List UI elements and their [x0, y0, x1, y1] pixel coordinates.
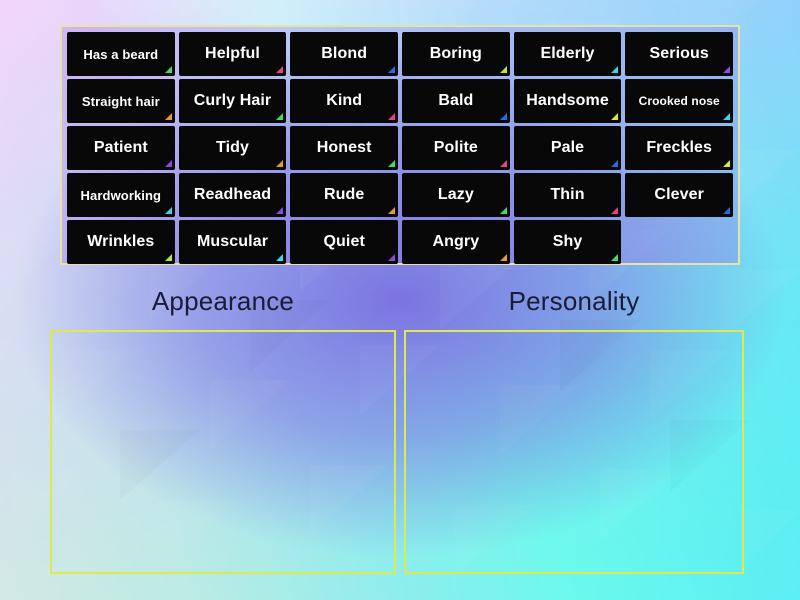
word-tile-corner-triangle-icon	[165, 254, 172, 261]
word-tile-corner-triangle-icon	[388, 113, 395, 120]
word-tile-label: Angry	[432, 234, 479, 250]
word-tile[interactable]: Kind	[290, 79, 398, 123]
word-tile[interactable]: Has a beard	[67, 32, 175, 76]
word-tile[interactable]: Thin	[514, 173, 622, 217]
word-tile[interactable]: Lazy	[402, 173, 510, 217]
word-tile[interactable]: Shy	[514, 220, 622, 264]
word-tile-corner-triangle-icon	[388, 207, 395, 214]
word-tile-label: Boring	[430, 46, 482, 62]
word-tile-row: Straight hairCurly HairKindBaldHandsomeC…	[67, 79, 733, 123]
word-tile[interactable]: Angry	[402, 220, 510, 264]
word-tile-corner-triangle-icon	[388, 254, 395, 261]
word-tile-corner-triangle-icon	[723, 113, 730, 120]
word-tile[interactable]: Serious	[625, 32, 733, 76]
word-tile-corner-triangle-icon	[165, 207, 172, 214]
word-tile-corner-triangle-icon	[611, 160, 618, 167]
word-tile[interactable]: Rude	[290, 173, 398, 217]
word-tile-label: Tidy	[216, 140, 249, 156]
word-tile-corner-triangle-icon	[388, 66, 395, 73]
word-tile-label: Polite	[434, 140, 478, 156]
word-tile-row: WrinklesMuscularQuietAngryShy	[67, 220, 733, 264]
word-tile[interactable]: Freckles	[625, 126, 733, 170]
word-tile-label: Straight hair	[82, 95, 160, 108]
word-tile-label: Has a beard	[83, 48, 158, 61]
word-tile[interactable]: Boring	[402, 32, 510, 76]
word-tile[interactable]: Wrinkles	[67, 220, 175, 264]
word-tile[interactable]: Clever	[625, 173, 733, 217]
word-tile-label: Crooked nose	[639, 95, 720, 107]
word-tile-corner-triangle-icon	[500, 160, 507, 167]
word-tile-row: Has a beardHelpfulBlondBoringElderlySeri…	[67, 32, 733, 76]
word-tile[interactable]: Elderly	[514, 32, 622, 76]
word-tile-label: Blond	[321, 46, 367, 62]
word-tile[interactable]: Helpful	[179, 32, 287, 76]
word-tile[interactable]: Curly Hair	[179, 79, 287, 123]
word-tile-label: Bald	[438, 93, 473, 109]
word-tile-label: Serious	[650, 46, 709, 62]
word-tile-label: Rude	[324, 187, 364, 203]
word-tile[interactable]: Bald	[402, 79, 510, 123]
category-heading-appearance: Appearance	[50, 286, 396, 317]
word-tile-label: Helpful	[205, 46, 260, 62]
word-tile-corner-triangle-icon	[723, 207, 730, 214]
word-tile-label: Lazy	[438, 187, 474, 203]
word-tile-corner-triangle-icon	[276, 66, 283, 73]
word-tile[interactable]: Honest	[290, 126, 398, 170]
word-tile-corner-triangle-icon	[165, 160, 172, 167]
word-tile-label: Thin	[550, 187, 584, 203]
word-tile-corner-triangle-icon	[500, 207, 507, 214]
drop-zone-personality[interactable]	[404, 330, 744, 574]
word-tile[interactable]: Blond	[290, 32, 398, 76]
word-tile[interactable]: Straight hair	[67, 79, 175, 123]
word-tile-label: Shy	[553, 234, 583, 250]
word-tile-label: Clever	[654, 187, 704, 203]
word-tile-corner-triangle-icon	[723, 66, 730, 73]
word-tile-corner-triangle-icon	[500, 66, 507, 73]
word-tile-corner-triangle-icon	[388, 160, 395, 167]
word-bank-panel: Has a beardHelpfulBlondBoringElderlySeri…	[60, 25, 740, 265]
word-tile[interactable]: Polite	[402, 126, 510, 170]
word-tile-label: Wrinkles	[87, 234, 154, 250]
word-tile-corner-triangle-icon	[500, 254, 507, 261]
word-tile-corner-triangle-icon	[165, 113, 172, 120]
word-tile[interactable]: Pale	[514, 126, 622, 170]
word-tile-corner-triangle-icon	[165, 66, 172, 73]
activity-stage: Has a beardHelpfulBlondBoringElderlySeri…	[0, 0, 800, 600]
word-tile[interactable]: Quiet	[290, 220, 398, 264]
word-tile-corner-triangle-icon	[276, 160, 283, 167]
word-tile-corner-triangle-icon	[500, 113, 507, 120]
word-tile-label: Handsome	[526, 93, 609, 109]
word-tile[interactable]: Hardworking	[67, 173, 175, 217]
word-tile[interactable]: Handsome	[514, 79, 622, 123]
word-tile-corner-triangle-icon	[611, 207, 618, 214]
word-tile-label: Quiet	[323, 234, 364, 250]
drop-zone-appearance[interactable]	[50, 330, 396, 574]
word-tile-empty-slot	[625, 220, 733, 264]
word-tile[interactable]: Patient	[67, 126, 175, 170]
word-tile[interactable]: Crooked nose	[625, 79, 733, 123]
word-tile[interactable]: Readhead	[179, 173, 287, 217]
word-tile-label: Freckles	[646, 140, 712, 156]
word-tile-label: Kind	[326, 93, 362, 109]
word-tile-label: Patient	[94, 140, 148, 156]
word-tile-label: Muscular	[197, 234, 268, 250]
word-tile-corner-triangle-icon	[276, 207, 283, 214]
word-tile-corner-triangle-icon	[611, 113, 618, 120]
word-tile-label: Hardworking	[81, 189, 162, 202]
word-tile-row: HardworkingReadheadRudeLazyThinClever	[67, 173, 733, 217]
word-tile-corner-triangle-icon	[723, 160, 730, 167]
word-tile-label: Elderly	[540, 46, 594, 62]
word-tile-label: Curly Hair	[194, 93, 271, 109]
word-tile-label: Readhead	[194, 187, 271, 203]
word-tile-corner-triangle-icon	[611, 66, 618, 73]
word-tile-row: PatientTidyHonestPolitePaleFreckles	[67, 126, 733, 170]
category-heading-personality: Personality	[404, 286, 744, 317]
word-tile-label: Pale	[551, 140, 584, 156]
word-tile[interactable]: Tidy	[179, 126, 287, 170]
word-tile-corner-triangle-icon	[611, 254, 618, 261]
word-tile[interactable]: Muscular	[179, 220, 287, 264]
word-tile-corner-triangle-icon	[276, 113, 283, 120]
word-tile-corner-triangle-icon	[276, 254, 283, 261]
word-tile-label: Honest	[317, 140, 372, 156]
